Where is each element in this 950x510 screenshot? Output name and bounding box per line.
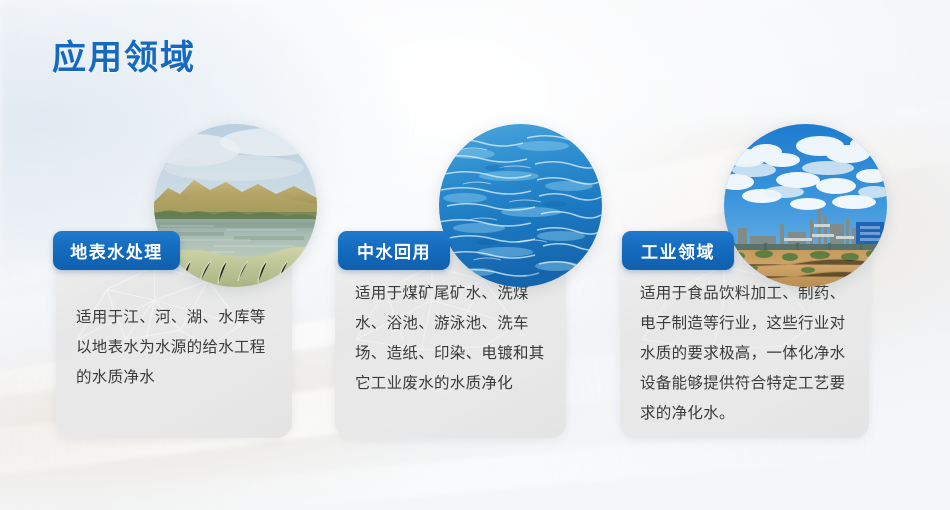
blue-water-ripples-photo bbox=[439, 124, 602, 287]
card-badge[interactable]: 工业领域 bbox=[622, 231, 734, 270]
card-description: 适用于江、河、湖、水库等以地表水为水源的给水工程的水质净水 bbox=[76, 302, 276, 392]
card-description: 适用于煤矿尾矿水、洗煤水、浴池、游泳池、洗车场、造纸、印染、电镀和其它工业废水的… bbox=[355, 278, 554, 398]
card-badge[interactable]: 中水回用 bbox=[338, 231, 450, 270]
card-badge[interactable]: 地表水处理 bbox=[53, 231, 180, 270]
slide-canvas: 应用领域 适用于江、河、湖、水库等以地表水为水源的给水工程的水质净水 地表水处理 bbox=[0, 0, 950, 510]
industrial-plant-photo bbox=[724, 124, 887, 287]
card-description: 适用于食品饮料加工、制药、电子制造等行业，这些行业对水质的要求极高，一体化净水设… bbox=[640, 278, 859, 428]
page-title: 应用领域 bbox=[52, 30, 196, 79]
